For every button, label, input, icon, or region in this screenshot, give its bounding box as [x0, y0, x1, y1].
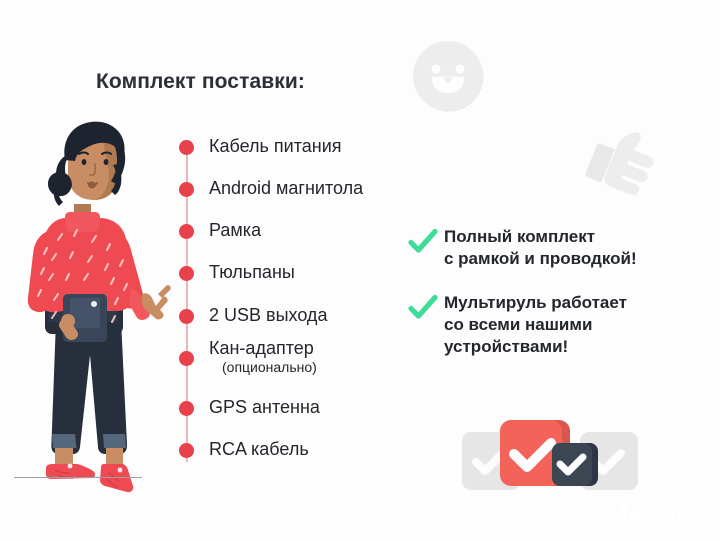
promo-card: Комплект поставки: Кабель питания Androi… [0, 0, 720, 540]
ground-line [14, 477, 142, 478]
list-item-label: RCA кабель [209, 437, 309, 461]
list-item-label: GPS антенна [209, 395, 320, 419]
page-title: Комплект поставки: [96, 70, 305, 94]
list-item-label: Android магнитола [209, 176, 363, 200]
list-item-label: Рамка [209, 218, 261, 242]
highlight-item: Мультируль работает со всеми нашими устр… [408, 292, 708, 358]
bullet-dot-icon [179, 140, 194, 155]
bullet-dot-icon [179, 309, 194, 324]
smiley-face-icon [412, 40, 484, 112]
checkbox-tiles-icon [462, 412, 638, 496]
green-check-icon [408, 228, 438, 256]
bullet-dot-icon [179, 401, 194, 416]
list-item-label: 2 USB выхода [209, 303, 327, 327]
highlight-label: Полный комплект с рамкой и проводкой! [444, 226, 708, 270]
woman-pointing-illustration [8, 108, 178, 498]
avito-watermark: Avito [616, 498, 712, 528]
highlights-block: Полный комплект с рамкой и проводкой! Му… [408, 226, 708, 372]
bullet-dot-icon [179, 266, 194, 281]
list-item-label: Кабель питания [209, 134, 342, 158]
list-item-label: Кан-адаптер [209, 336, 314, 360]
thumbs-up-icon [582, 118, 668, 204]
green-check-icon [408, 294, 438, 322]
bullet-dot-icon [179, 443, 194, 458]
highlight-item: Полный комплект с рамкой и проводкой! [408, 226, 708, 270]
bullet-dot-icon [179, 351, 194, 366]
highlight-label: Мультируль работает со всеми нашими устр… [444, 292, 708, 358]
bullet-dot-icon [179, 224, 194, 239]
list-item-label: Тюльпаны [209, 260, 295, 284]
avito-watermark-label: Avito [644, 503, 696, 526]
list-item-sublabel: (опционально) [222, 358, 317, 376]
bullet-dot-icon [179, 182, 194, 197]
